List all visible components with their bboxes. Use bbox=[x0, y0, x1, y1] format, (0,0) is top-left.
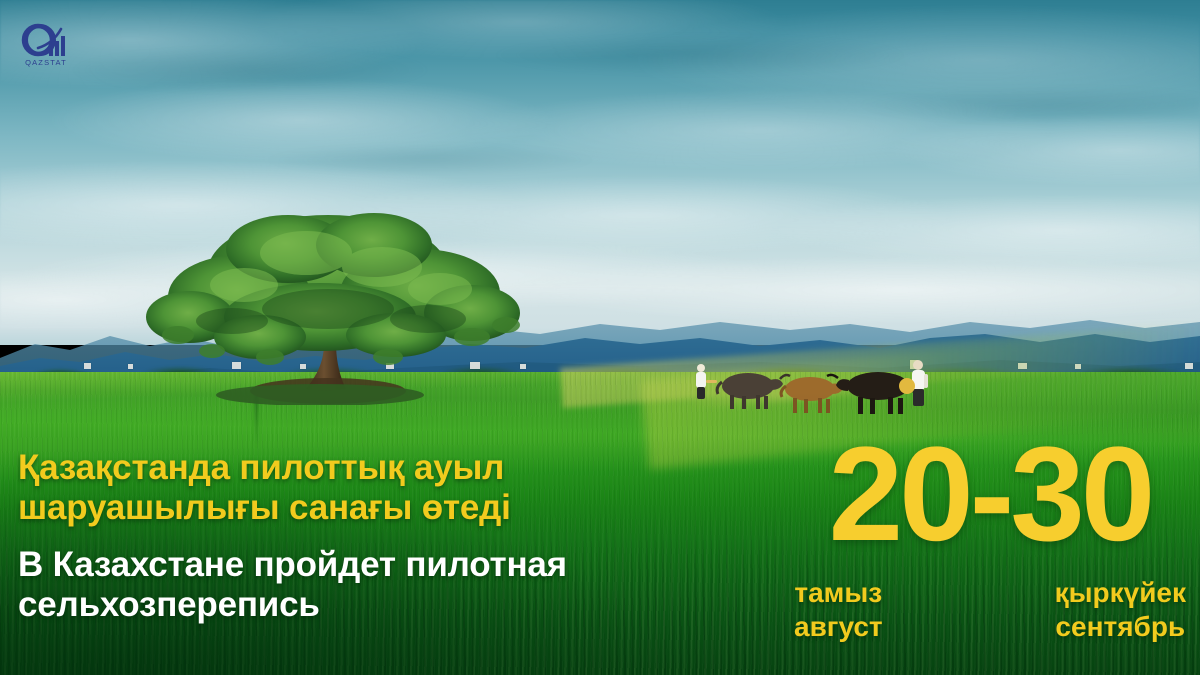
month-labels: тамыз август қыркүйек сентябрь bbox=[790, 576, 1190, 644]
farmer-left bbox=[696, 364, 717, 399]
ox-black bbox=[827, 372, 914, 414]
farmers-with-cattle-icon bbox=[650, 350, 960, 425]
start-month-kazakh: тамыз bbox=[794, 576, 883, 610]
end-month-kazakh: қыркүйек bbox=[1055, 576, 1186, 610]
headline-russian-line-1: В Казахстане пройдет пилотная bbox=[18, 545, 718, 585]
agricultural-census-poster: QAZSTAT Қазақстанда пилоттық ауыл шаруаш… bbox=[0, 0, 1200, 675]
qazstat-logo-icon[interactable]: QAZSTAT bbox=[14, 18, 78, 68]
cow-brown bbox=[781, 377, 843, 413]
headline-block: Қазақстанда пилоттық ауыл шаруашылығы са… bbox=[18, 448, 718, 626]
date-range: 20-30 bbox=[790, 440, 1190, 550]
headline-russian-line-2: сельхозперепись bbox=[18, 585, 718, 625]
headline-russian: В Казахстане пройдет пилотная сельхозпер… bbox=[18, 545, 718, 626]
farmer-right bbox=[899, 360, 928, 406]
date-block: 20-30 тамыз август қыркүйек сентябрь bbox=[790, 440, 1190, 644]
buffalo-dark bbox=[717, 373, 790, 409]
end-month-russian: сентябрь bbox=[1055, 610, 1186, 644]
large-tree-icon bbox=[120, 205, 540, 405]
start-month: тамыз август bbox=[794, 576, 883, 644]
headline-kazakh-line-1: Қазақстанда пилоттық ауыл bbox=[18, 448, 718, 488]
start-month-russian: август bbox=[794, 610, 883, 644]
headline-kazakh-line-2: шаруашылығы санағы өтеді bbox=[18, 488, 718, 528]
logo-wordmark: QAZSTAT bbox=[25, 58, 67, 67]
headline-kazakh: Қазақстанда пилоттық ауыл шаруашылығы са… bbox=[18, 448, 718, 527]
end-month: қыркүйек сентябрь bbox=[1055, 576, 1186, 644]
